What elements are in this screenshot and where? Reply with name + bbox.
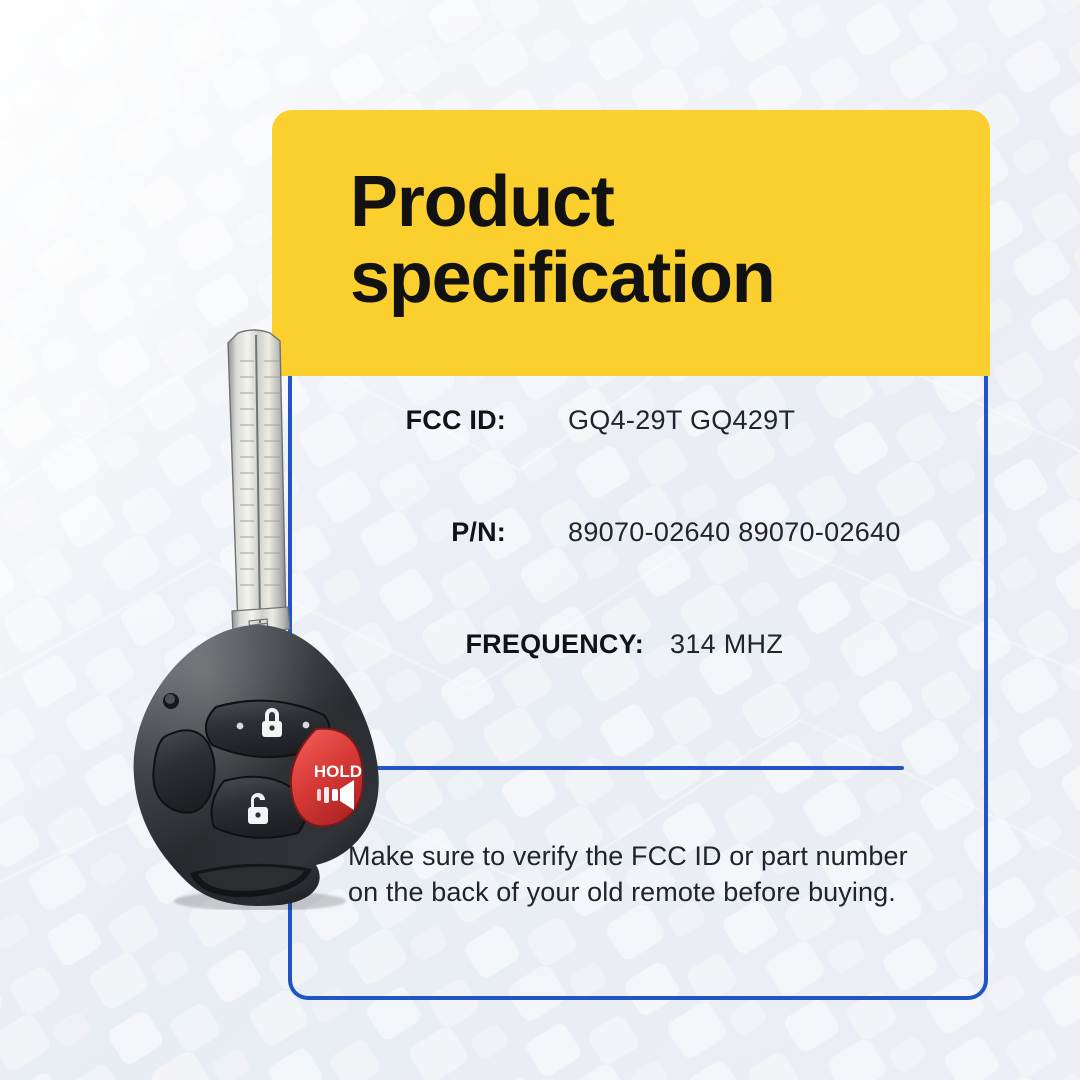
spec-divider — [370, 766, 904, 770]
key-blade — [228, 330, 290, 636]
spec-row-fcc-id: FCC ID: GQ4-29T GQ429T — [288, 405, 988, 517]
hold-label: HOLD — [314, 762, 362, 781]
trunk-button — [153, 730, 214, 813]
specification-list: FCC ID: GQ4-29T GQ429T P/N: 89070-02640 … — [288, 405, 988, 741]
spec-row-part-number: P/N: 89070-02640 89070-02640 — [288, 517, 988, 629]
page-title: Product specification — [272, 164, 775, 323]
spec-value-frequency: 314 MHZ — [644, 629, 783, 660]
spec-value-part-number: 89070-02640 89070-02640 — [506, 517, 901, 548]
car-key-remote-fob-image: HOLD — [120, 325, 390, 910]
spec-value-fcc-id: GQ4-29T GQ429T — [506, 405, 795, 436]
verification-note: Make sure to verify the FCC ID or part n… — [348, 838, 948, 910]
spec-row-frequency: FREQUENCY: 314 MHZ — [288, 629, 988, 741]
